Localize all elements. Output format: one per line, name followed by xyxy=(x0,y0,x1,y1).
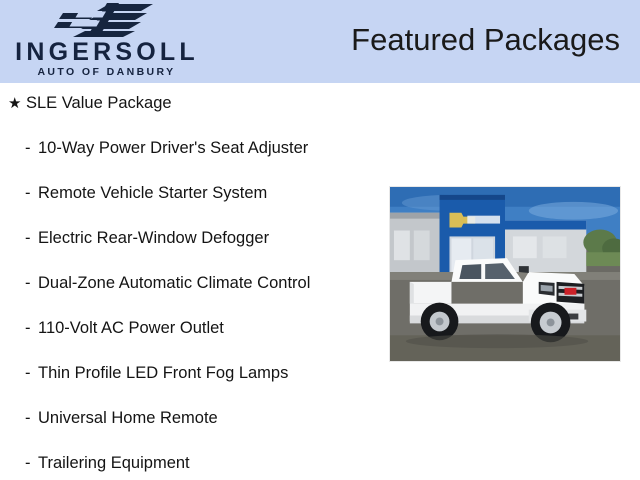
feature-list-item: -Trailering Equipment xyxy=(0,455,390,472)
page-header: INGERSOLL AUTO OF DANBURY Featured Packa… xyxy=(0,0,640,83)
vehicle-photo-illustration xyxy=(390,187,620,361)
feature-label: SLE Value Package xyxy=(26,94,172,112)
feature-label: Remote Vehicle Starter System xyxy=(38,184,267,202)
dash-bullet-icon: - xyxy=(25,410,38,427)
feature-label: Dual-Zone Automatic Climate Control xyxy=(38,274,310,292)
ingersoll-wing-emblem-icon xyxy=(49,2,161,38)
feature-label: 10-Way Power Driver's Seat Adjuster xyxy=(38,139,308,157)
feature-list-item: -Thin Profile LED Front Fog Lamps xyxy=(0,365,390,382)
feature-list-item: -Dual-Zone Automatic Climate Control xyxy=(0,275,390,292)
dash-bullet-icon: - xyxy=(25,365,38,382)
dash-bullet-icon: - xyxy=(25,140,38,157)
feature-list-item: -110-Volt AC Power Outlet xyxy=(0,320,390,337)
feature-label: Universal Home Remote xyxy=(38,409,218,427)
feature-label: 110-Volt AC Power Outlet xyxy=(38,319,224,337)
feature-label: Electric Rear-Window Defogger xyxy=(38,229,269,247)
dash-bullet-icon: - xyxy=(25,275,38,292)
brand-logo: INGERSOLL AUTO OF DANBURY xyxy=(0,2,210,79)
brand-subtitle: AUTO OF DANBURY xyxy=(0,66,210,79)
feature-list-item: -Remote Vehicle Starter System xyxy=(0,185,390,202)
feature-label: Thin Profile LED Front Fog Lamps xyxy=(38,364,288,382)
dash-bullet-icon: - xyxy=(25,455,38,472)
slide-content: ★SLE Value Package-10-Way Power Driver's… xyxy=(0,83,640,480)
feature-list-item: -Universal Home Remote xyxy=(0,410,390,427)
feature-list-item: -10-Way Power Driver's Seat Adjuster xyxy=(0,140,390,157)
feature-list: ★SLE Value Package-10-Way Power Driver's… xyxy=(0,83,390,472)
feature-list-item: -Electric Rear-Window Defogger xyxy=(0,230,390,247)
star-bullet-icon: ★ xyxy=(8,95,26,112)
feature-label: Trailering Equipment xyxy=(38,454,190,472)
vehicle-photo xyxy=(389,186,621,362)
dash-bullet-icon: - xyxy=(25,185,38,202)
feature-group-heading: ★SLE Value Package xyxy=(0,95,390,112)
page-title: Featured Packages xyxy=(351,21,620,59)
dash-bullet-icon: - xyxy=(25,230,38,247)
dash-bullet-icon: - xyxy=(25,320,38,337)
brand-name: INGERSOLL xyxy=(0,39,210,65)
